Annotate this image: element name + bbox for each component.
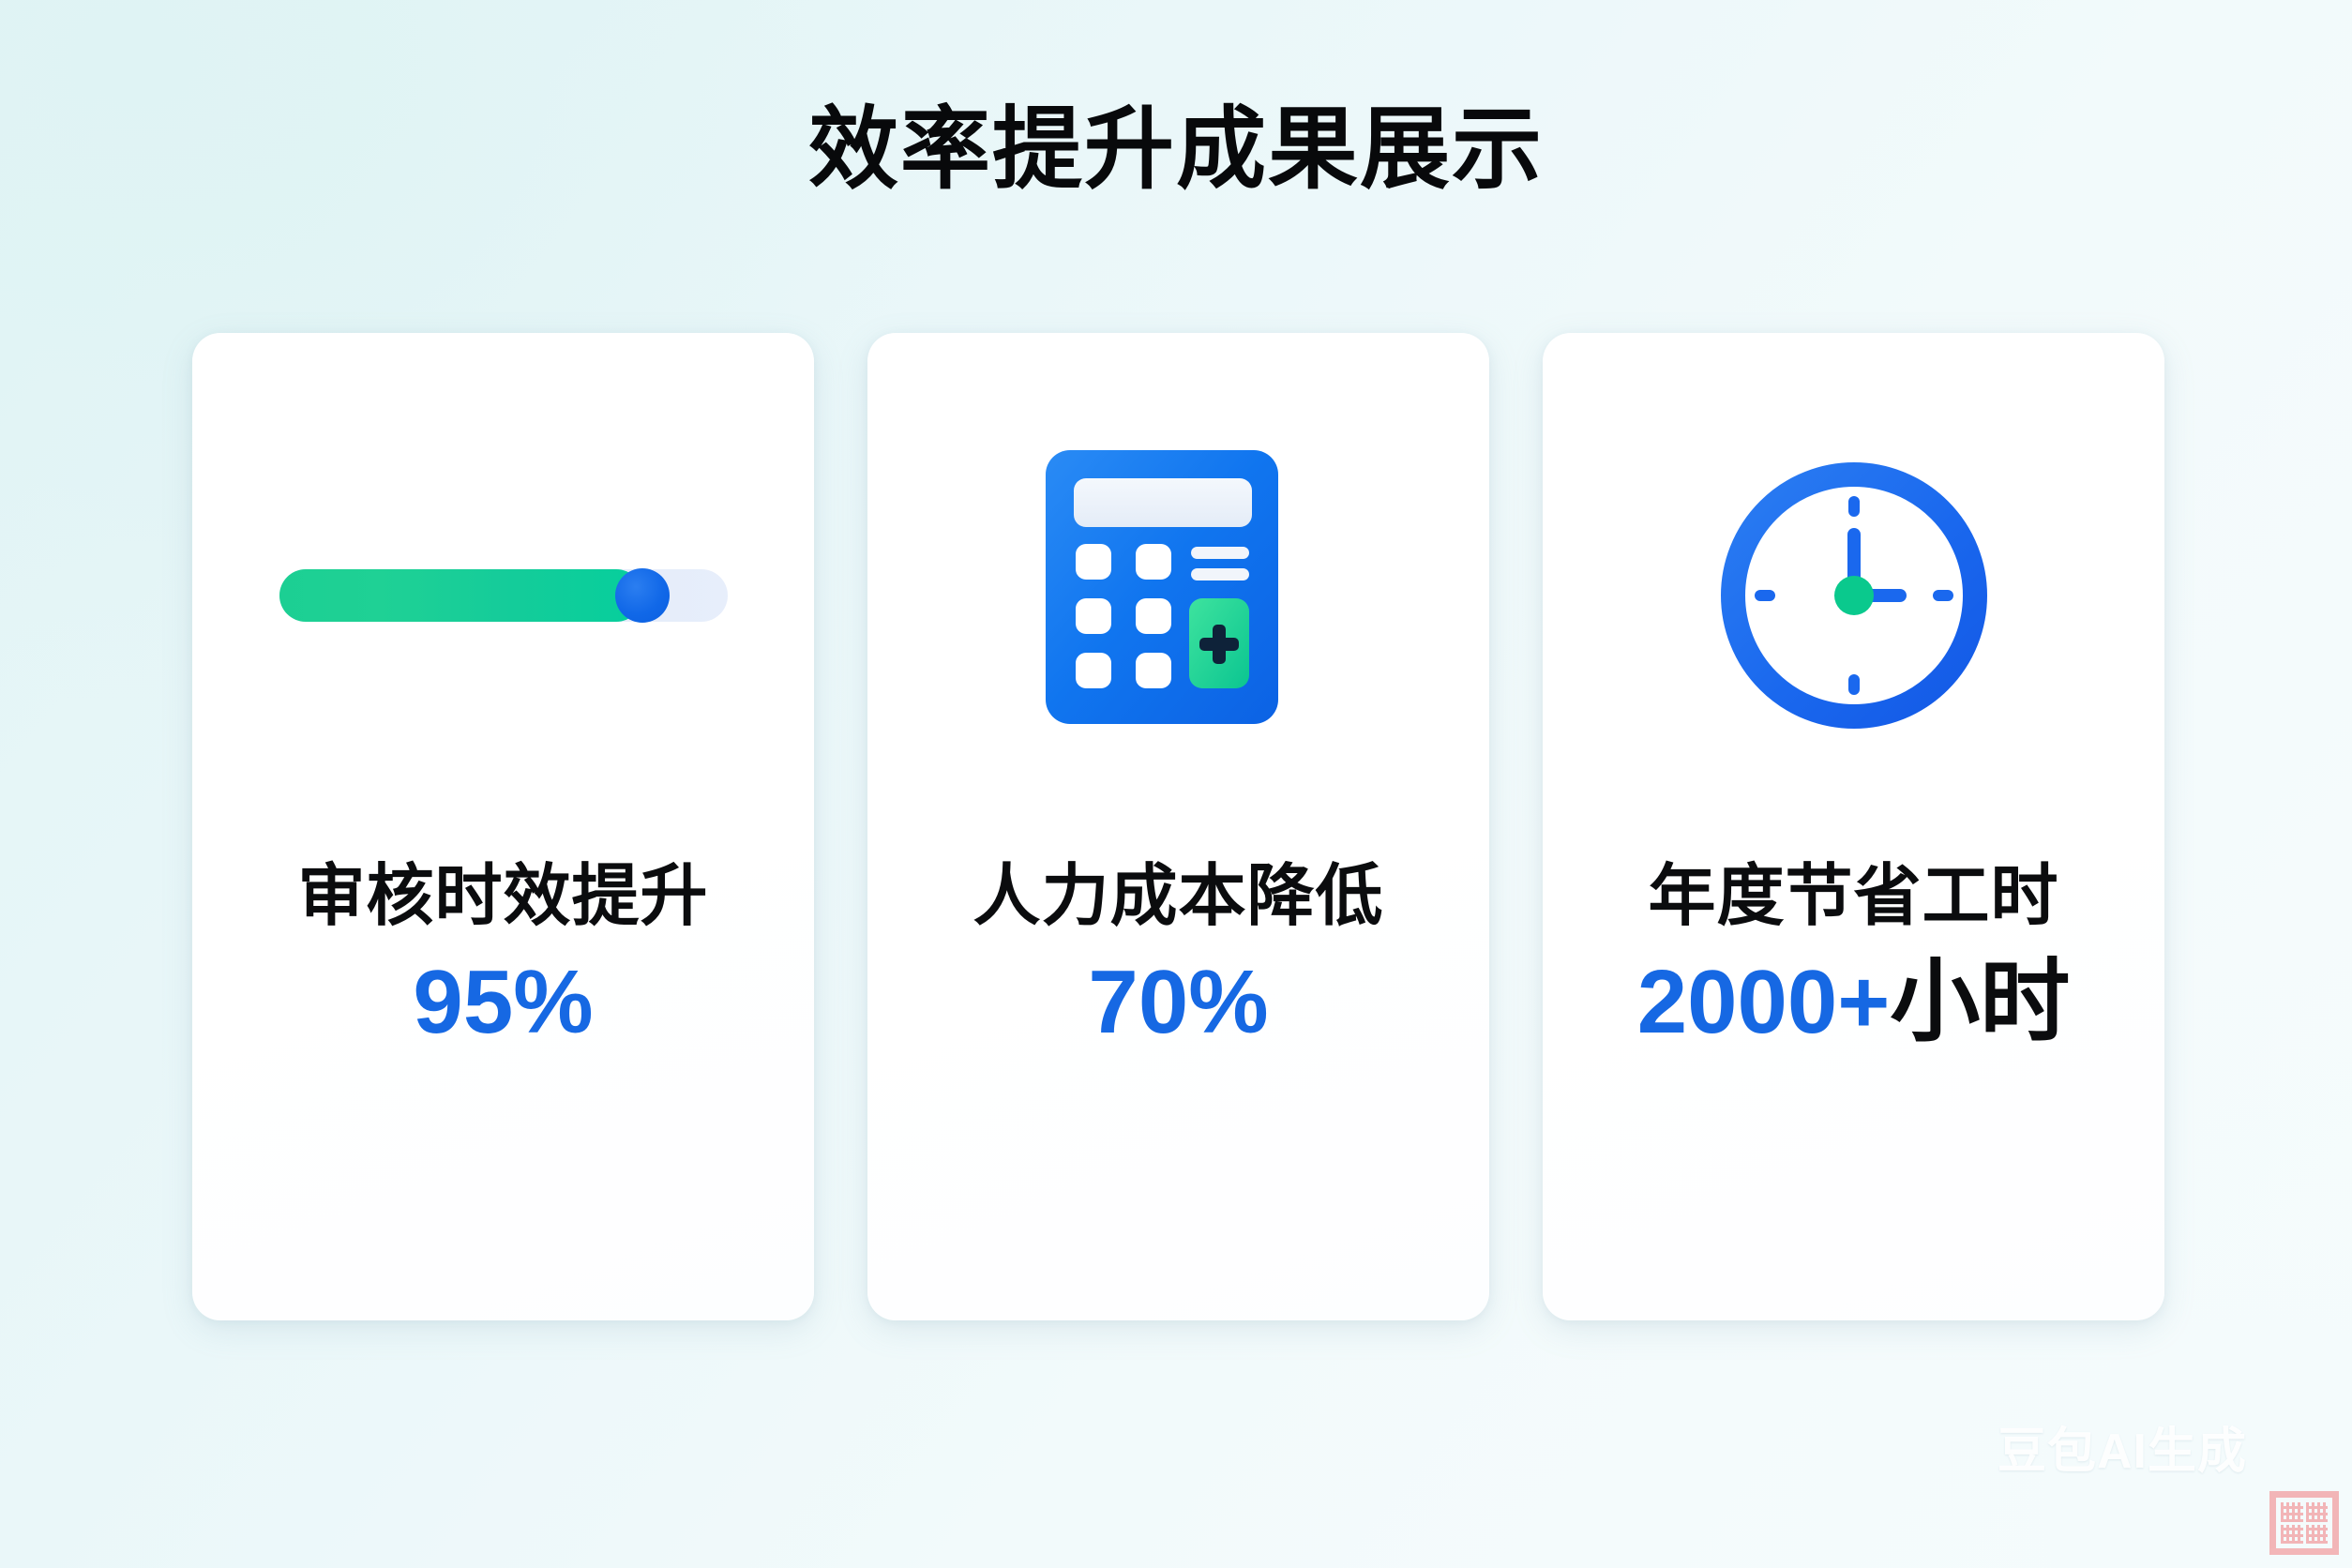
seal-glyph	[2306, 1525, 2329, 1545]
card-value-number: 70%	[1088, 952, 1268, 1052]
progress-fill	[279, 569, 642, 622]
seal-glyph	[2306, 1502, 2329, 1522]
stat-card-row: 审核时效提升 95%	[192, 333, 2164, 1320]
card-visual-clock	[1543, 333, 2164, 858]
seal-glyph	[2281, 1525, 2303, 1545]
clock-icon	[1713, 455, 1995, 736]
seal-glyph	[2281, 1502, 2303, 1522]
poster-canvas: 效率提升成果展示 审核时效提升 95%	[0, 0, 2352, 1568]
watermark-label: 豆包AI生成	[1998, 1411, 2247, 1482]
progress-knob[interactable]	[615, 568, 670, 623]
card-value-number: 95%	[413, 952, 593, 1052]
seal-stamp-icon	[2269, 1491, 2339, 1555]
card-text-block: 年度节省工时 2000+小时	[1543, 858, 2164, 1054]
card-visual-progress	[192, 333, 814, 858]
card-value: 70%	[1088, 950, 1268, 1054]
card-visual-calculator	[867, 333, 1489, 858]
card-text-block: 人力成本降低 70%	[867, 858, 1489, 1054]
card-label: 年度节省工时	[1648, 858, 2058, 937]
card-text-block: 审核时效提升 95%	[192, 858, 814, 1054]
page-title: 效率提升成果展示	[0, 101, 2352, 199]
progress-bar[interactable]	[279, 569, 728, 622]
card-label: 审核时效提升	[297, 858, 708, 937]
card-value-suffix: 小时	[1890, 952, 2070, 1052]
card-value: 2000+小时	[1637, 950, 2071, 1054]
calculator-icon	[1038, 441, 1319, 750]
card-value: 95%	[413, 950, 593, 1054]
stat-card-hours-saved[interactable]: 年度节省工时 2000+小时	[1543, 333, 2164, 1320]
card-value-number: 2000+	[1637, 952, 1891, 1052]
stat-card-labor-cost[interactable]: 人力成本降低 70%	[867, 333, 1489, 1320]
stat-card-audit-efficiency[interactable]: 审核时效提升 95%	[192, 333, 814, 1320]
card-label: 人力成本降低	[972, 858, 1383, 937]
